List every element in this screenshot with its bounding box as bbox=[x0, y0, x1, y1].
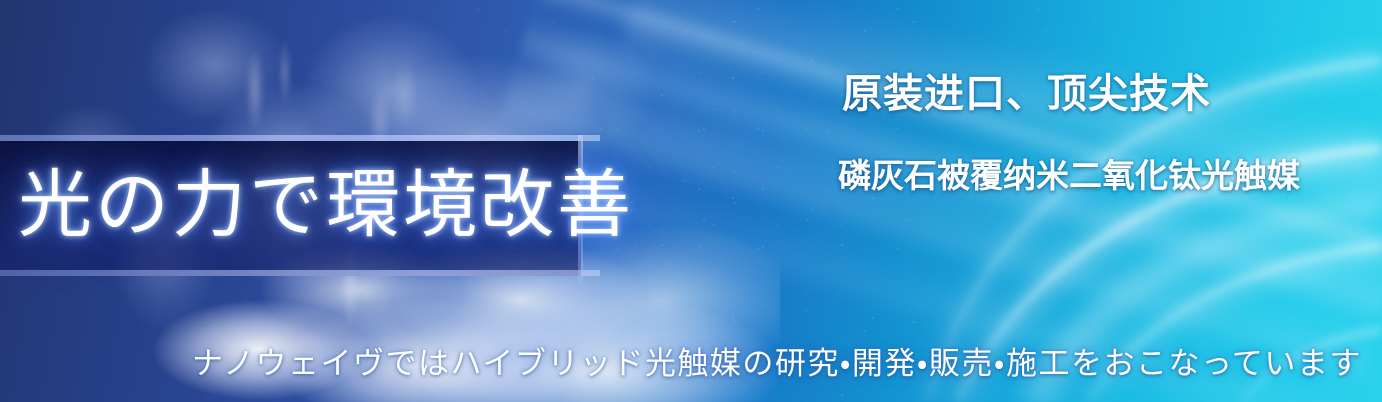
chinese-headline: 原装进口、顶尖技术 bbox=[842, 74, 1211, 114]
chinese-subheadline: 磷灰石被覆纳米二氧化钛光触媒 bbox=[838, 159, 1300, 192]
plate-top-highlight bbox=[0, 135, 600, 141]
particle-speckles-dense bbox=[560, 0, 1120, 402]
plate-bottom-highlight bbox=[0, 270, 600, 276]
tagline: ナノウェイヴではハイブリッド光触媒の研究・開発・販売・施工をおこなっています bbox=[192, 349, 1362, 380]
main-headline: 光の力で環境改善 bbox=[18, 168, 634, 242]
hero-banner: 光の力で環境改善 原装进口、顶尖技术 磷灰石被覆纳米二氧化钛光触媒 ナノウェイヴ… bbox=[0, 0, 1382, 402]
